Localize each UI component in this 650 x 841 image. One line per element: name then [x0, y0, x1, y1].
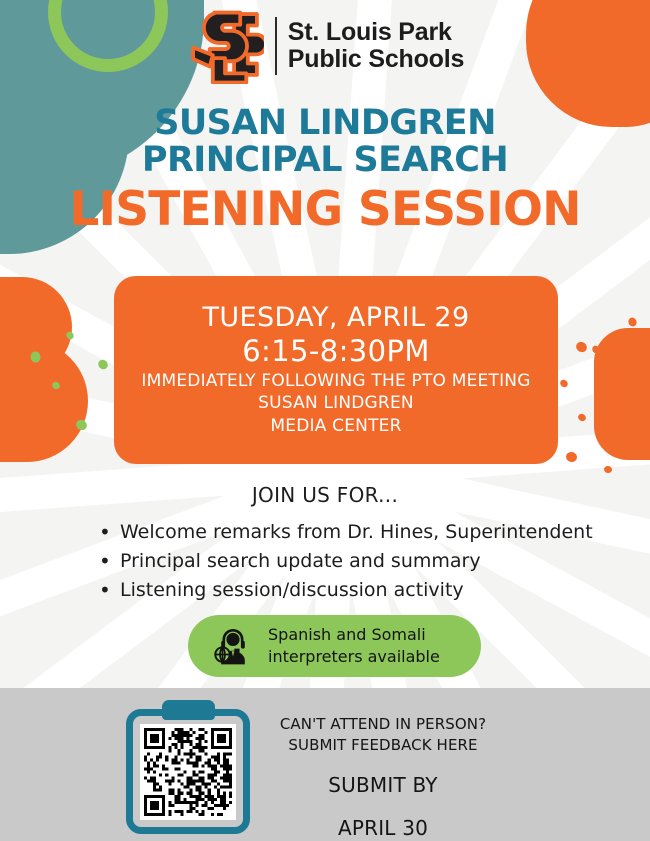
list-item: Principal search update and summary [95, 547, 595, 576]
event-date: TUESDAY, APRIL 29 [202, 302, 469, 334]
list-item: Listening session/discussion activity [95, 576, 595, 605]
event-note: IMMEDIATELY FOLLOWING THE PTO MEETING [141, 370, 530, 393]
clipboard-clip [162, 700, 215, 720]
flyer-poster: St. Louis Park Public Schools SUSAN LIND… [0, 0, 650, 841]
footer-prompt-line-1: CAN'T ATTEND IN PERSON? [268, 714, 498, 735]
logo-line-2: Public Schools [288, 46, 464, 74]
footer-deadline-line-1: SUBMIT BY [268, 771, 498, 800]
logo-divider [275, 17, 277, 75]
event-time: 6:15-8:30PM [242, 334, 430, 369]
event-location-line-2: MEDIA CENTER [270, 415, 401, 438]
footer-text-block: CAN'T ATTEND IN PERSON? SUBMIT FEEDBACK … [268, 714, 498, 841]
agenda-title: JOIN US FOR... [0, 483, 650, 507]
district-logo: St. Louis Park Public Schools [0, 8, 650, 84]
slp-monogram-logo-icon [186, 8, 264, 84]
interpreter-headset-globe-icon [212, 625, 254, 667]
qr-code-clipboard[interactable] [126, 700, 250, 834]
footer-prompt-line-2: SUBMIT FEEDBACK HERE [268, 735, 498, 756]
event-location-line-1: SUSAN LINDGREN [258, 392, 414, 415]
page-title: SUSAN LINDGREN PRINCIPAL SEARCH LISTENIN… [0, 105, 650, 235]
headline-line-2: PRINCIPAL SEARCH [0, 142, 650, 179]
qr-code-padding [140, 724, 236, 820]
event-details-box: TUESDAY, APRIL 29 6:15-8:30PM IMMEDIATEL… [114, 276, 558, 464]
agenda-list: Welcome remarks from Dr. Hines, Superint… [95, 518, 595, 605]
interpreter-text: Spanish and Somali interpreters availabl… [268, 624, 440, 668]
interpreter-line-1: Spanish and Somali [268, 624, 440, 646]
interpreter-line-2: interpreters available [268, 646, 440, 668]
interpreter-banner: Spanish and Somali interpreters availabl… [188, 615, 481, 677]
logo-line-1: St. Louis Park [288, 19, 464, 47]
headline-line-1: SUSAN LINDGREN [0, 105, 650, 142]
qr-code-image[interactable] [144, 728, 232, 816]
logo-wordmark: St. Louis Park Public Schools [288, 19, 464, 74]
headline-line-3: LISTENING SESSION [0, 185, 650, 235]
list-item: Welcome remarks from Dr. Hines, Superint… [95, 518, 595, 547]
footer-deadline-line-2: APRIL 30 [268, 814, 498, 841]
